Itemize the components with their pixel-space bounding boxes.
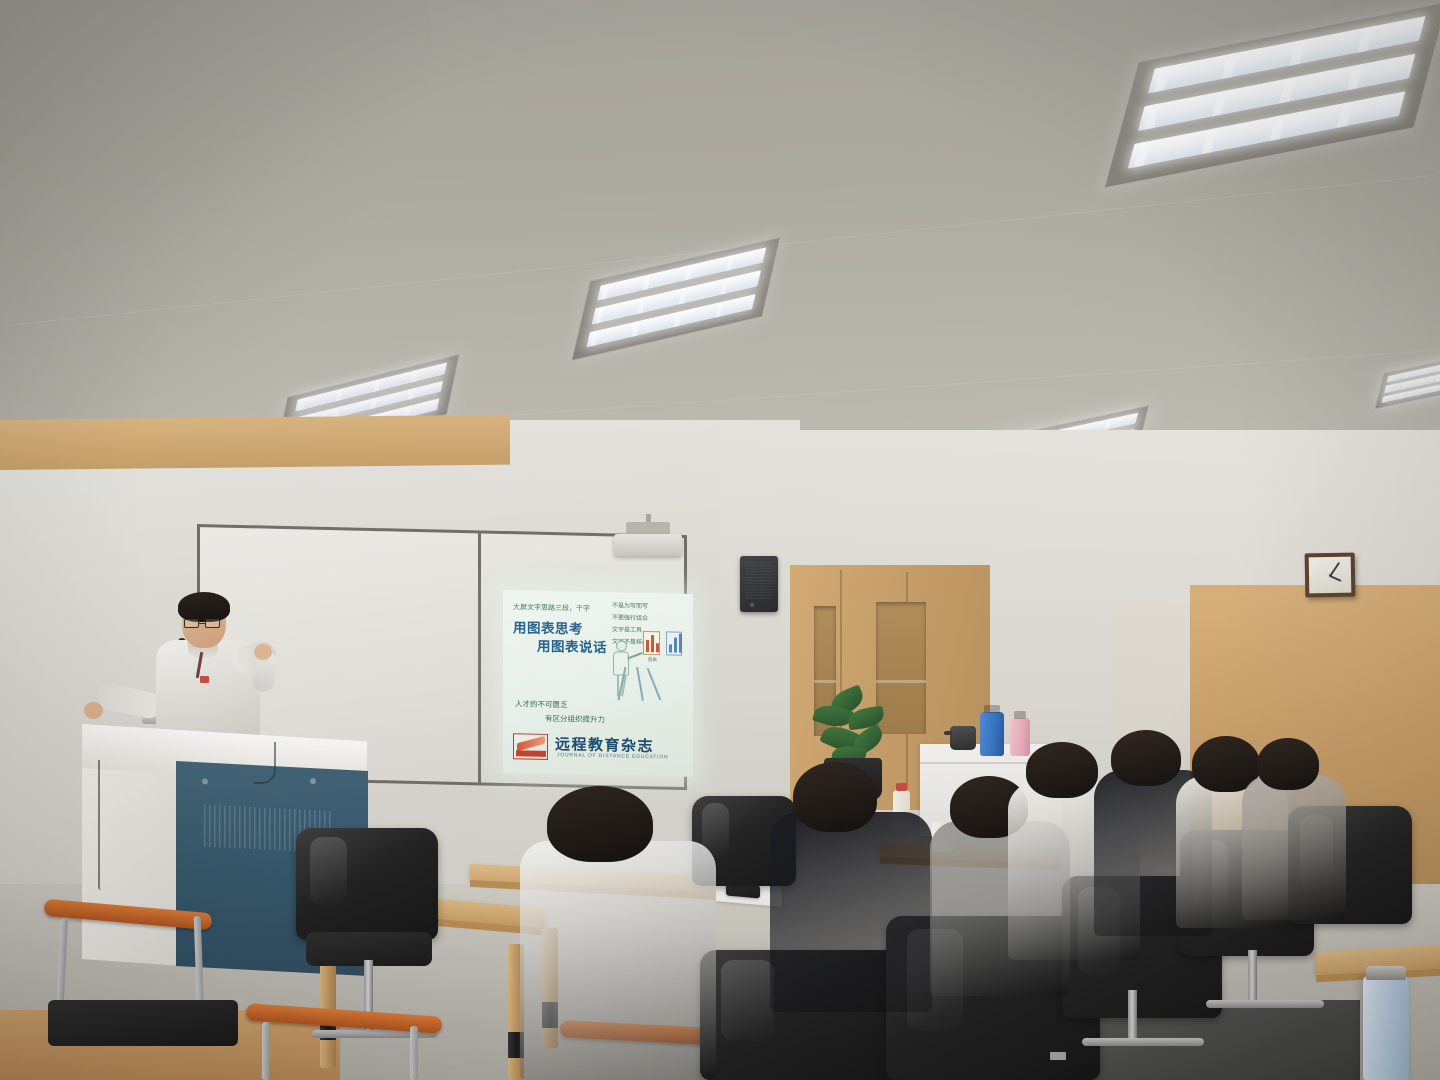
electric-kettle[interactable] (950, 726, 976, 750)
journal-logo-icon (513, 733, 548, 760)
chart-a-caption: 图表 (648, 657, 657, 663)
presenter-left-hand (84, 702, 103, 719)
bottle-cap (984, 705, 999, 713)
bottle-blue[interactable] (980, 712, 1004, 756)
person-torso (1242, 775, 1346, 920)
chair-empty-left[interactable] (296, 828, 438, 940)
slide-note-2: 不要强行组合 (612, 612, 648, 625)
attendee-white-hoodie (520, 786, 716, 1080)
chair-frame (410, 1026, 418, 1080)
easel-leg (617, 667, 626, 700)
slide-chart-blue (666, 631, 682, 655)
person-hair (1257, 738, 1319, 790)
podium-side-panel (82, 744, 178, 966)
journal-name-en: JOURNAL OF DISTANCE EDUCATION (557, 752, 668, 760)
chart-bar (679, 634, 682, 653)
clock-face (1309, 557, 1352, 594)
chair-frame (262, 1022, 270, 1080)
slide-kicker: 大屏文字思路三段，千字 (513, 602, 590, 614)
chair-seat (48, 1000, 238, 1046)
glasses-lens (205, 619, 220, 628)
chair-post (1248, 950, 1257, 1006)
slide-subtext-1: 人才的不可匮乏 (515, 698, 568, 710)
presenter-hair (178, 592, 230, 622)
logo-swoosh (517, 736, 545, 751)
chair-post (1128, 990, 1137, 1042)
presenter-right-hand (254, 644, 272, 660)
slide-note-3: 文字是工具 (612, 624, 642, 637)
chair-base (1206, 1000, 1324, 1008)
podium-fastener (202, 778, 208, 784)
chart-bar (656, 643, 659, 652)
slide-title-line2: 用图表说话 (537, 635, 607, 656)
bottle-cap (1014, 711, 1027, 719)
chair-label-tag (1050, 1052, 1066, 1060)
kettle-spout (944, 731, 952, 735)
chair-highlight (721, 960, 775, 1041)
thermos-cap (1366, 966, 1406, 980)
slide-illustration-easel (619, 658, 659, 701)
chart-bar (646, 640, 649, 652)
projected-slide: 大屏文字思路三段，千字 用图表思考 用图表说话 不是为写而写 不要强行组合 文字… (503, 590, 693, 777)
chair-base (1082, 1038, 1204, 1046)
speaker-led-icon (750, 603, 754, 607)
chart-bar (674, 638, 677, 653)
attendee-patterned-top (1242, 738, 1346, 920)
wall-clock (1305, 553, 1356, 598)
speaker-grill (745, 562, 773, 600)
thermos-foreground[interactable] (1363, 976, 1409, 1080)
presenter-badge (200, 676, 209, 683)
illustration-head (616, 640, 627, 651)
wood-trim-band (0, 415, 510, 470)
easel-leg (636, 667, 643, 701)
person-hair (1026, 742, 1098, 798)
clock-center-pin (1328, 573, 1331, 576)
chair-highlight (310, 837, 347, 906)
person-torso (520, 841, 716, 1080)
logo-bar (516, 750, 546, 757)
person-hair (1111, 730, 1181, 786)
glasses-lens (184, 619, 199, 628)
ceiling-projector (614, 534, 682, 556)
mic-cable (254, 742, 276, 784)
glasses-icon (184, 619, 226, 628)
attendee-black-jacket (770, 762, 932, 1012)
slide-note-1: 不是为写而写 (612, 600, 648, 613)
easel-leg (647, 668, 661, 700)
wall-speaker (740, 556, 778, 612)
slide-subtext-2: 有区分组织提升力 (545, 713, 605, 725)
podium-fastener (310, 778, 316, 784)
whiteboard-divider (478, 533, 481, 782)
conference-room-photo: 大屏文字思路三段，千字 用图表思考 用图表说话 不是为写而写 不要强行组合 文字… (0, 0, 1440, 1080)
person-torso (770, 812, 932, 1012)
chart-bar (651, 635, 654, 652)
podium-cable (98, 760, 101, 890)
person-hair (793, 762, 877, 832)
slide-chart-orange (643, 631, 660, 655)
slide-corner-notes: 不是为写而写 不要强行组合 文字是工具 文字不是核心 (612, 600, 686, 628)
chart-bar (669, 644, 672, 652)
person-hair (547, 786, 653, 862)
